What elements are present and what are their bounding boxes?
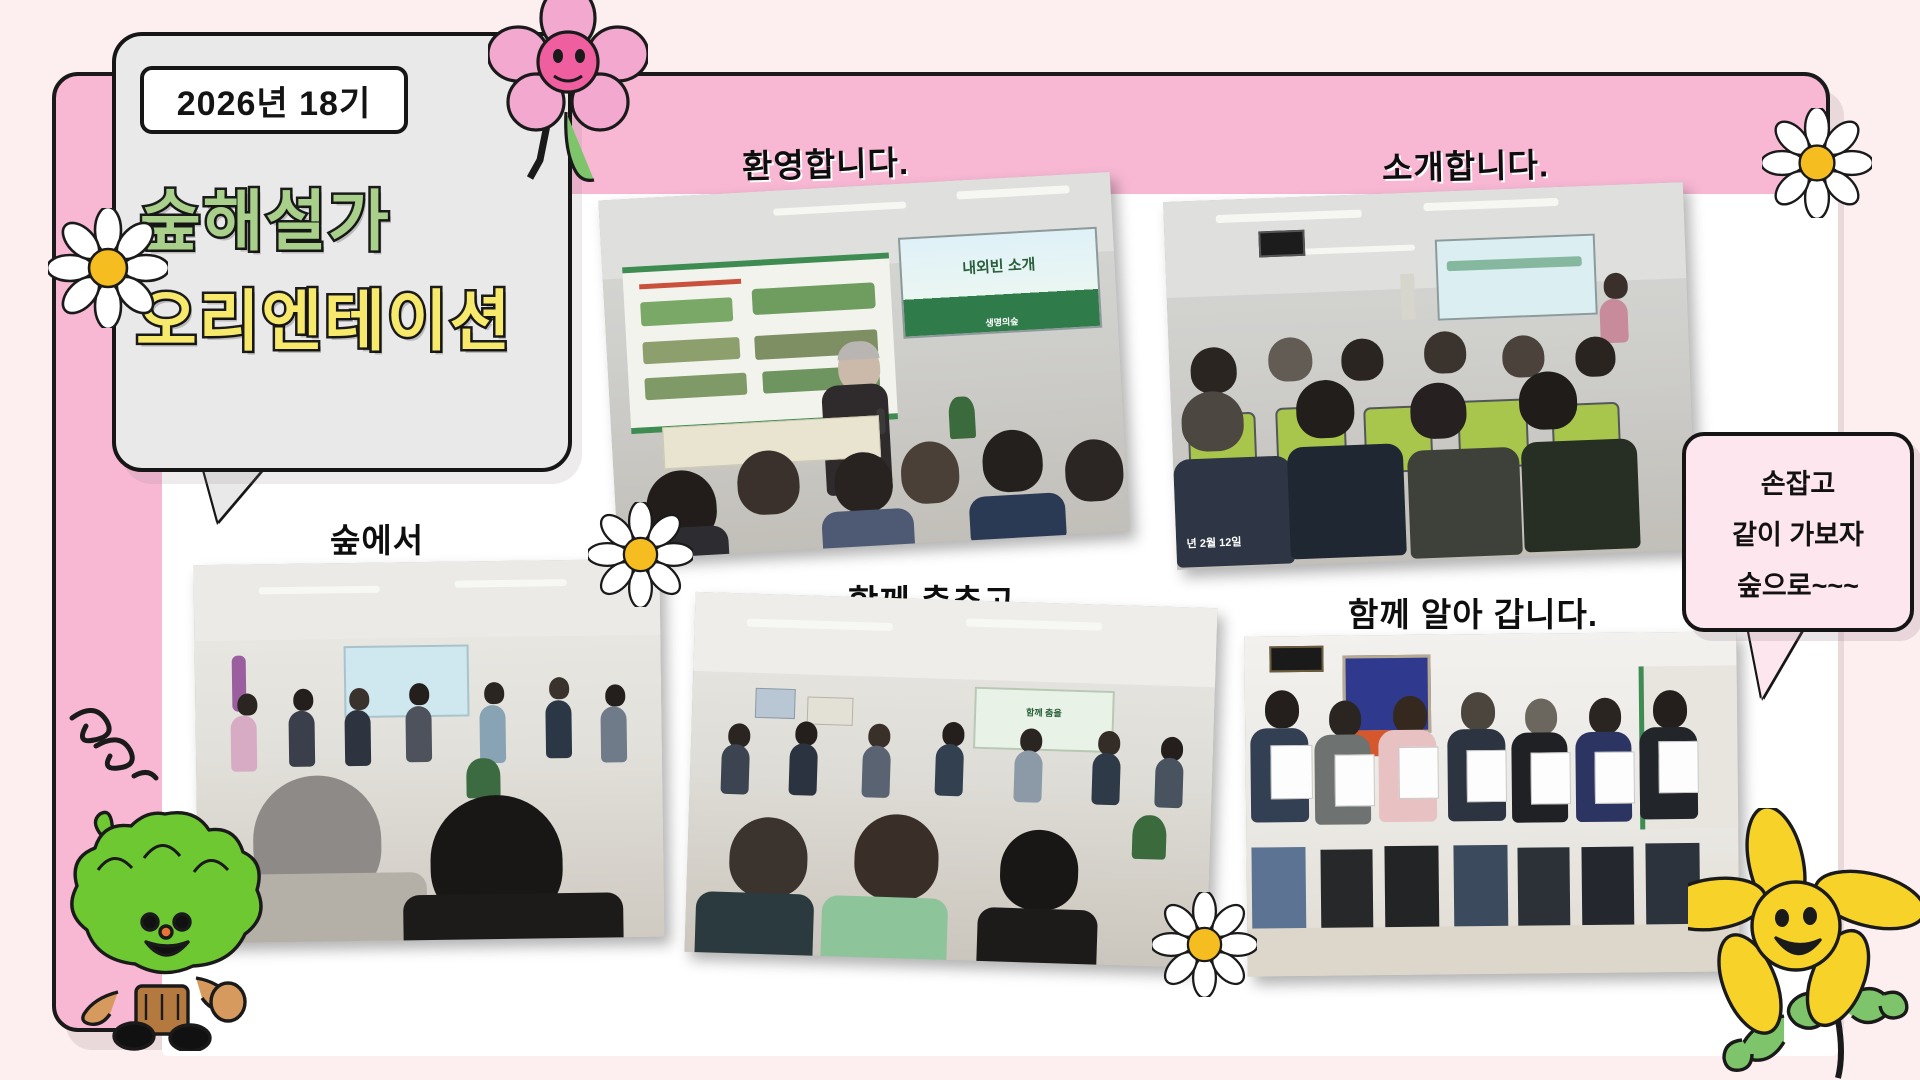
yellow-flower-mascot bbox=[1688, 808, 1920, 1080]
photo-date-stamp: 년 2월 12일 bbox=[1186, 533, 1241, 551]
tree-mascot bbox=[58, 796, 273, 1051]
caption-introduce: 소개합니다. bbox=[1382, 138, 1550, 189]
daisy-flower-top-right bbox=[1762, 108, 1872, 218]
doodle-swirl-icon bbox=[62, 700, 172, 800]
presentation-screen-2 bbox=[1435, 233, 1598, 320]
daisy-flower-left bbox=[48, 208, 168, 328]
daisy-flower-bottom bbox=[1152, 892, 1257, 997]
photo-dancing: 함께 춤을 bbox=[684, 592, 1217, 968]
caption-welcome: 환영합니다. bbox=[741, 136, 909, 188]
year-badge-label: 2026년 18기 bbox=[177, 76, 371, 125]
speech-bubble-line-1: 손잡고 bbox=[1761, 462, 1836, 501]
poster-canvas: 환영합니다. 내외빈 소개 생명의숲 bbox=[0, 0, 1920, 1080]
photo-learning bbox=[1244, 631, 1740, 976]
daisy-flower-middle bbox=[588, 502, 693, 607]
year-badge: 2026년 18기 bbox=[140, 66, 408, 134]
caption-learning: 함께 알아 갑니다. bbox=[1348, 588, 1598, 636]
speech-bubble-line-2: 같이 가보자 bbox=[1732, 513, 1864, 552]
caption-in-forest: 숲에서 bbox=[330, 514, 424, 562]
presentation-screen: 내외빈 소개 생명의숲 bbox=[898, 227, 1102, 339]
presentation-screen-3: 함께 춤을 bbox=[973, 687, 1115, 753]
speech-bubble-line-3: 숲으로~~~ bbox=[1737, 564, 1859, 603]
cherry-blossom-mascot bbox=[488, 0, 648, 202]
speech-bubble-tail bbox=[1748, 626, 1804, 698]
screen-title: 내외빈 소개 bbox=[901, 250, 1096, 282]
page-title-line1: 숲해설가 bbox=[140, 168, 391, 264]
speech-bubble: 손잡고 같이 가보자 숲으로~~~ bbox=[1682, 432, 1914, 632]
page-title-line2: 오리엔테이션 bbox=[136, 268, 512, 364]
photo-introduce: 년 2월 12일 bbox=[1163, 182, 1697, 570]
screen-title-3: 함께 춤을 bbox=[976, 704, 1112, 721]
